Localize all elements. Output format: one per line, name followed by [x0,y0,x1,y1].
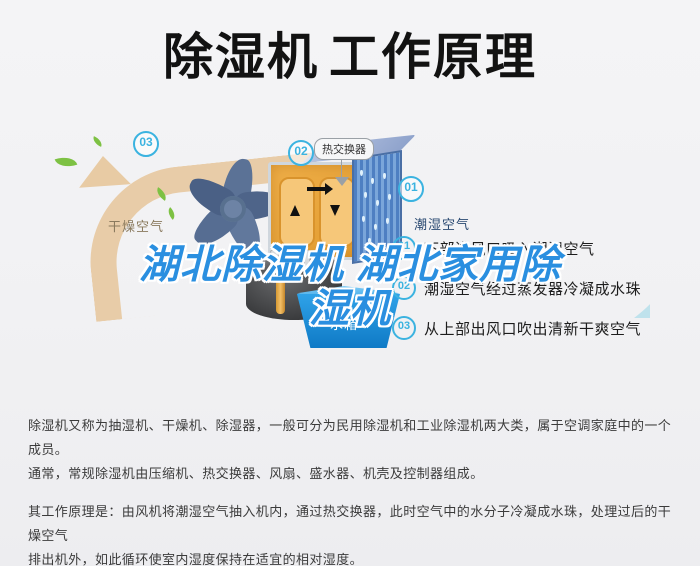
step-description: 从上部出风口吹出清新干爽空气 [424,318,641,339]
fan-hub [220,196,246,222]
step-list: 01 下部进风口吸入潮湿空气 02 潮湿空气经过蒸发器冷凝成水珠 03 从上部出… [392,228,692,348]
step-description: 下部进风口吸入潮湿空气 [424,238,595,259]
paragraph-2-line-1: 其工作原理是：由风机将潮湿空气抽入机内，通过热交换器，此时空气中的水分子冷凝成水… [28,500,676,548]
body-copy: 除湿机又称为抽湿机、干燥机、除湿器，一般可分为民用除湿机和工业除湿机两大类，属于… [28,414,676,566]
step-number: 03 [392,316,416,340]
infographic-page: 除湿机工作原理 干燥空气 潮湿空气 [0,0,700,566]
heat-exchanger-callout: 热交换器 [314,138,374,160]
step-description: 潮湿空气经过蒸发器冷凝成水珠 [424,278,641,299]
step-number: 02 [392,276,416,300]
page-title: 除湿机工作原理 [0,28,700,86]
flow-arrow-right-icon [307,187,325,191]
paragraph-2-line-2: 排出机外，如此循环使室内湿度保持在适宜的相对湿度。 [28,548,676,566]
heat-exchanger-callout-label: 热交换器 [322,144,366,156]
flow-arrow-up-icon [290,205,300,216]
diagram-badge-03: 03 [133,131,159,157]
dry-air-label: 干燥空气 [108,216,164,235]
paragraph-1-line-1: 除湿机又称为抽湿机、干燥机、除湿器，一般可分为民用除湿机和工业除湿机两大类，属于… [28,414,676,462]
diagram-badge-02: 02 [288,140,314,166]
leaf-icon [55,153,78,171]
condensation-droplets [356,164,396,254]
flow-arrow-down-icon [330,205,340,216]
page-title-part-b: 工作原理 [329,28,537,86]
paragraph-spacer [28,486,676,500]
compressor-pipe [276,264,285,314]
paragraph-1-line-2: 通常，常规除湿机由压缩机、热交换器、风扇、盛水器、机壳及控制器组成。 [28,462,676,486]
step-item: 03 从上部出风口吹出清新干爽空气 [392,308,692,348]
leaf-icon [91,136,104,147]
diagram-badge-01: 01 [398,176,424,202]
callout-pointer-icon [335,177,349,186]
dry-air-arrow-head [77,154,131,188]
step-item: 02 潮湿空气经过蒸发器冷凝成水珠 [392,268,692,308]
water-tank-label: 水箱 [330,314,358,333]
compressor-label: 压缩机 [270,250,310,269]
step-number: 01 [392,236,416,260]
step-item: 01 下部进风口吸入潮湿空气 [392,228,692,268]
page-title-part-a: 除湿机 [163,28,319,86]
